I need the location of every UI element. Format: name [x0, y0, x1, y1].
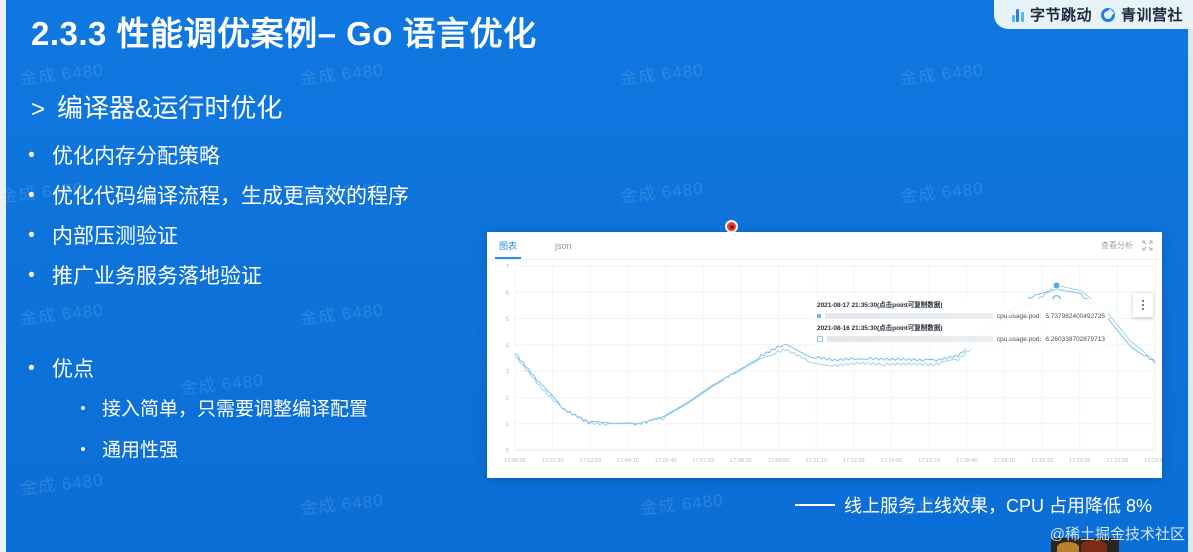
- tooltip-series-name-blurred: [825, 313, 993, 319]
- tooltip-metric-1: cpu.usage.pod:: [997, 312, 1041, 321]
- right-edge-accent: [1188, 0, 1193, 552]
- svg-text:17:09:50: 17:09:50: [768, 458, 790, 464]
- watermark: 金成 6480: [299, 56, 385, 90]
- svg-text:17:01:30: 17:01:30: [542, 458, 564, 464]
- line-chart: 7654321017:00:0617:01:3017:02:5317:04:16…: [487, 260, 1162, 478]
- tab-json[interactable]: json: [555, 233, 572, 259]
- svg-text:17:22:20: 17:22:20: [1106, 458, 1128, 464]
- bullet-dot-icon: •: [28, 183, 35, 209]
- view-analysis-button[interactable]: 查看分析: [1101, 240, 1133, 251]
- svg-text:17:18:10: 17:18:10: [994, 458, 1016, 464]
- chart-tooltip: 2021-08-17 21:35:30(点击point可复制数据) cpu.us…: [814, 299, 1108, 349]
- svg-text:6: 6: [506, 291, 510, 297]
- series-swatch-icon: [817, 336, 823, 342]
- tooltip-value-1: 5.737982400492725: [1045, 312, 1105, 321]
- svg-text:17:11:13: 17:11:13: [805, 458, 826, 464]
- bullet-dot-icon: •: [28, 223, 35, 249]
- kebab-menu-icon[interactable]: [1133, 293, 1153, 317]
- brand-bytedance: 字节跳动: [1012, 4, 1092, 25]
- pros-heading-label: 优点: [52, 356, 94, 383]
- section-subhead: > 编译器&运行时优化: [31, 88, 282, 125]
- svg-text:17:07:03: 17:07:03: [692, 458, 714, 464]
- list-item: • 优化代码编译流程，生成更高效的程序: [28, 183, 409, 210]
- svg-text:5: 5: [506, 317, 510, 323]
- svg-text:4: 4: [506, 343, 510, 349]
- bullet-dot-icon: •: [80, 438, 86, 462]
- list-item-label: 优化代码编译流程，生成更高效的程序: [52, 183, 409, 210]
- chart-panel: 图表 json 查看分析 7654321017:00:0617:01:3017:…: [487, 232, 1162, 478]
- watermark: 金成 6480: [619, 56, 705, 90]
- list-item: • 接入简单，只需要调整编译配置: [80, 397, 368, 422]
- svg-text:17:19:33: 17:19:33: [1031, 458, 1053, 464]
- tooltip-row-1: cpu.usage.pod: 5.737982400492725: [817, 312, 1105, 321]
- page-title: 2.3.3 性能调优案例– Go 语言优化: [31, 14, 537, 54]
- bar-chart-icon: [1012, 8, 1024, 22]
- brand-bytedance-label: 字节跳动: [1030, 4, 1092, 25]
- list-item-label: 内部压测验证: [52, 223, 178, 250]
- left-edge-accent: [0, 0, 6, 552]
- svg-text:17:20:56: 17:20:56: [1069, 458, 1091, 464]
- tab-chart[interactable]: 图表: [499, 233, 517, 259]
- tooltip-time-2: 2021-08-16 21:35:30(点击point可复制数据): [817, 324, 1105, 334]
- svg-text:17:05:40: 17:05:40: [655, 458, 677, 464]
- tooltip-value-2: 6.260338702879713: [1045, 335, 1105, 344]
- svg-text:7: 7: [506, 265, 510, 271]
- watermark: 金成 6480: [899, 174, 985, 208]
- brand-camp: 青训营社: [1101, 4, 1183, 25]
- bullet-dot-icon: •: [28, 143, 35, 169]
- watermark: 金成 6480: [19, 56, 105, 90]
- svg-text:17:16:46: 17:16:46: [956, 458, 978, 464]
- chart-caption: 线上服务上线效果，CPU 占用降低 8%: [795, 492, 1152, 518]
- list-item-label: 推广业务服务落地验证: [52, 263, 262, 290]
- tooltip-metric-2: cpu.usage.pod:: [997, 335, 1041, 344]
- list-item: • 推广业务服务落地验证: [28, 263, 409, 290]
- tooltip-series-name-blurred: [827, 336, 993, 342]
- list-item: • 优化内存分配策略: [28, 143, 409, 170]
- tooltip-row-2: cpu.usage.pod: 6.260338702879713: [817, 335, 1105, 344]
- svg-text:2: 2: [506, 396, 510, 402]
- chart-actions: 查看分析: [1101, 232, 1153, 259]
- svg-text:17:14:00: 17:14:00: [881, 458, 903, 464]
- list-item: • 内部压测验证: [28, 223, 409, 250]
- pros-block: • 优点 • 接入简单，只需要调整编译配置 • 通用性强: [28, 356, 368, 479]
- caption-rule: [795, 504, 835, 506]
- svg-text:17:04:16: 17:04:16: [617, 458, 639, 464]
- svg-text:17:23:43: 17:23:43: [1144, 458, 1162, 464]
- watermark: 金成 6480: [899, 56, 985, 90]
- list-item: • 通用性强: [80, 438, 368, 463]
- brand-camp-label: 青训营社: [1121, 4, 1183, 25]
- bullet-list: • 优化内存分配策略 • 优化代码编译流程，生成更高效的程序 • 内部压测验证 …: [28, 143, 409, 303]
- pros-heading-row: • 优点: [28, 356, 368, 383]
- brand-bar: 字节跳动 青训营社: [994, 0, 1193, 29]
- series-swatch-icon: [817, 314, 821, 318]
- svg-text:17:12:36: 17:12:36: [843, 458, 865, 464]
- bullet-dot-icon: •: [80, 397, 86, 421]
- list-item-label: 通用性强: [102, 438, 178, 463]
- chart-plot-area[interactable]: 7654321017:00:0617:01:3017:02:5317:04:16…: [487, 260, 1162, 478]
- svg-text:3: 3: [506, 370, 510, 376]
- bullet-dot-icon: •: [28, 263, 35, 289]
- bullet-dot-icon: •: [28, 356, 35, 382]
- pros-list: • 接入简单，只需要调整编译配置 • 通用性强: [28, 397, 368, 463]
- list-item-label: 接入简单，只需要调整编译配置: [102, 397, 368, 422]
- section-subhead-label: 编译器&运行时优化: [57, 88, 282, 125]
- circle-ring-icon: [1101, 8, 1115, 22]
- svg-text:1: 1: [506, 422, 510, 428]
- svg-text:17:02:53: 17:02:53: [579, 458, 601, 464]
- list-item-label: 优化内存分配策略: [52, 143, 220, 170]
- chevron-right-icon: >: [31, 96, 45, 124]
- credit-watermark: @稀土掘金技术社区: [1050, 523, 1185, 544]
- slide-canvas: 金成 6480 金成 6480 金成 6480 金成 6480 金成 6480 …: [0, 0, 1193, 552]
- caption-label: 线上服务上线效果，CPU 占用降低 8%: [844, 492, 1152, 518]
- watermark: 金成 6480: [639, 486, 725, 520]
- svg-text:0: 0: [506, 449, 510, 455]
- svg-text:17:15:23: 17:15:23: [918, 458, 940, 464]
- svg-text:17:08:26: 17:08:26: [730, 458, 752, 464]
- watermark: 金成 6480: [619, 174, 705, 208]
- chart-tabs: 图表 json 查看分析: [487, 232, 1162, 260]
- watermark: 金成 6480: [299, 486, 385, 520]
- expand-arrows-icon[interactable]: [1142, 240, 1153, 251]
- svg-text:17:00:06: 17:00:06: [504, 458, 526, 464]
- tooltip-time-1: 2021-08-17 21:35:30(点击point可复制数据): [817, 301, 1105, 311]
